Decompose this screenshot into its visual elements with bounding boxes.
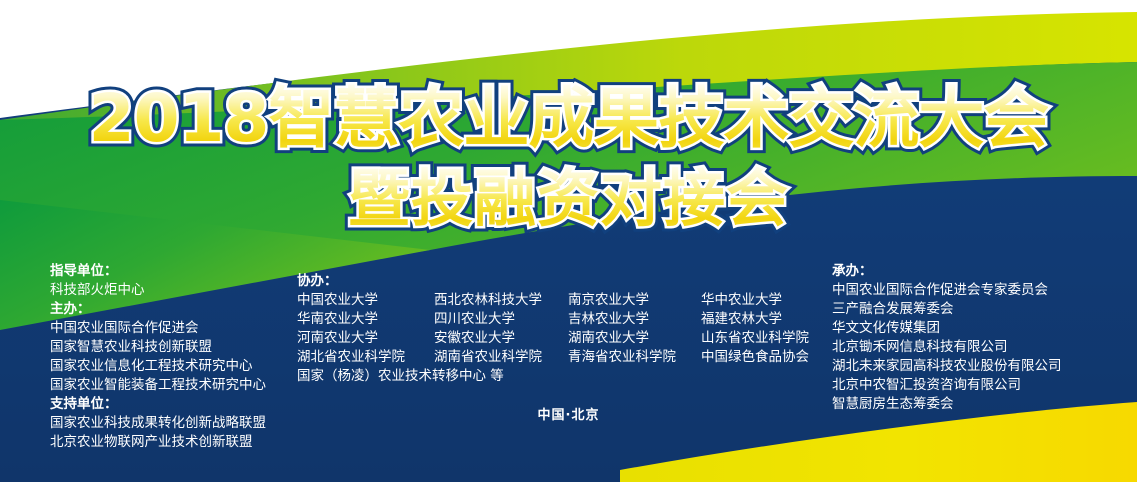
conference-banner: 2018智慧农业成果技术交流大会 2018智慧农业成果技术交流大会 2018智慧… bbox=[0, 0, 1137, 482]
coorganizer-row: 中国农业大学 西北农林科技大学 南京农业大学 华中农业大学 bbox=[297, 291, 831, 310]
coorganizer-item: 华南农业大学 bbox=[297, 310, 434, 329]
coorganizer-row: 国家（杨凌）农业技术转移中心 等 bbox=[297, 367, 831, 386]
coorganizer-item: 安徽农业大学 bbox=[434, 329, 568, 348]
coorganizer-column: 协办： 中国农业大学 西北农林科技大学 南京农业大学 华中农业大学 华南农业大学… bbox=[297, 272, 831, 386]
organizer-item: 华文文化传媒集团 bbox=[832, 319, 1062, 338]
organizer-item: 中国农业国际合作促进会专家委员会 bbox=[832, 281, 1062, 300]
coorganizer-heading: 协办： bbox=[297, 272, 831, 291]
guidance-heading: 指导单位： bbox=[50, 262, 266, 281]
coorganizer-item: 国家（杨凌）农业技术转移中心 等 bbox=[297, 367, 504, 386]
coorganizer-item: 湖北省农业科学院 bbox=[297, 348, 434, 367]
organizer-item: 湖北未来家园高科技农业股份有限公司 bbox=[832, 357, 1062, 376]
coorganizer-row: 河南农业大学 安徽农业大学 湖南农业大学 山东省农业科学院 bbox=[297, 329, 831, 348]
coorganizer-item: 四川农业大学 bbox=[434, 310, 568, 329]
coorganizer-item: 福建农林大学 bbox=[701, 310, 831, 329]
organizer-item: 北京锄禾网信息科技有限公司 bbox=[832, 338, 1062, 357]
coorganizer-item: 西北农林科技大学 bbox=[434, 291, 568, 310]
host-item: 国家农业信息化工程技术研究中心 bbox=[50, 357, 266, 376]
coorganizer-item: 湖南农业大学 bbox=[568, 329, 701, 348]
organizer-item: 北京中农智汇投资咨询有限公司 bbox=[832, 376, 1062, 395]
support-item: 北京农业物联网产业技术创新联盟 bbox=[50, 433, 266, 452]
organizer-heading: 承办： bbox=[832, 262, 1062, 281]
organizer-item: 三产融合发展筹委会 bbox=[832, 300, 1062, 319]
coorganizer-item: 山东省农业科学院 bbox=[701, 329, 831, 348]
coorganizer-item: 中国农业大学 bbox=[297, 291, 434, 310]
coorganizer-item: 青海省农业科学院 bbox=[568, 348, 701, 367]
coorganizer-item: 中国绿色食品协会 bbox=[701, 348, 831, 367]
venue-label: 中国·北京 bbox=[0, 404, 1137, 423]
coorganizer-item: 吉林农业大学 bbox=[568, 310, 701, 329]
organizer-column: 承办： 中国农业国际合作促进会专家委员会 三产融合发展筹委会 华文文化传媒集团 … bbox=[832, 262, 1062, 414]
coorganizer-item: 南京农业大学 bbox=[568, 291, 701, 310]
coorganizer-item: 湖南省农业科学院 bbox=[434, 348, 568, 367]
host-item: 国家智慧农业科技创新联盟 bbox=[50, 338, 266, 357]
coorganizer-item: 华中农业大学 bbox=[701, 291, 831, 310]
coorganizer-row: 华南农业大学 四川农业大学 吉林农业大学 福建农林大学 bbox=[297, 310, 831, 329]
guidance-item: 科技部火炬中心 bbox=[50, 281, 266, 300]
coorganizer-row: 湖北省农业科学院 湖南省农业科学院 青海省农业科学院 中国绿色食品协会 bbox=[297, 348, 831, 367]
guidance-host-support-column: 指导单位： 科技部火炬中心 主办： 中国农业国际合作促进会 国家智慧农业科技创新… bbox=[50, 262, 266, 452]
host-heading: 主办： bbox=[50, 300, 266, 319]
host-item: 中国农业国际合作促进会 bbox=[50, 319, 266, 338]
host-item: 国家农业智能装备工程技术研究中心 bbox=[50, 376, 266, 395]
coorganizer-item: 河南农业大学 bbox=[297, 329, 434, 348]
